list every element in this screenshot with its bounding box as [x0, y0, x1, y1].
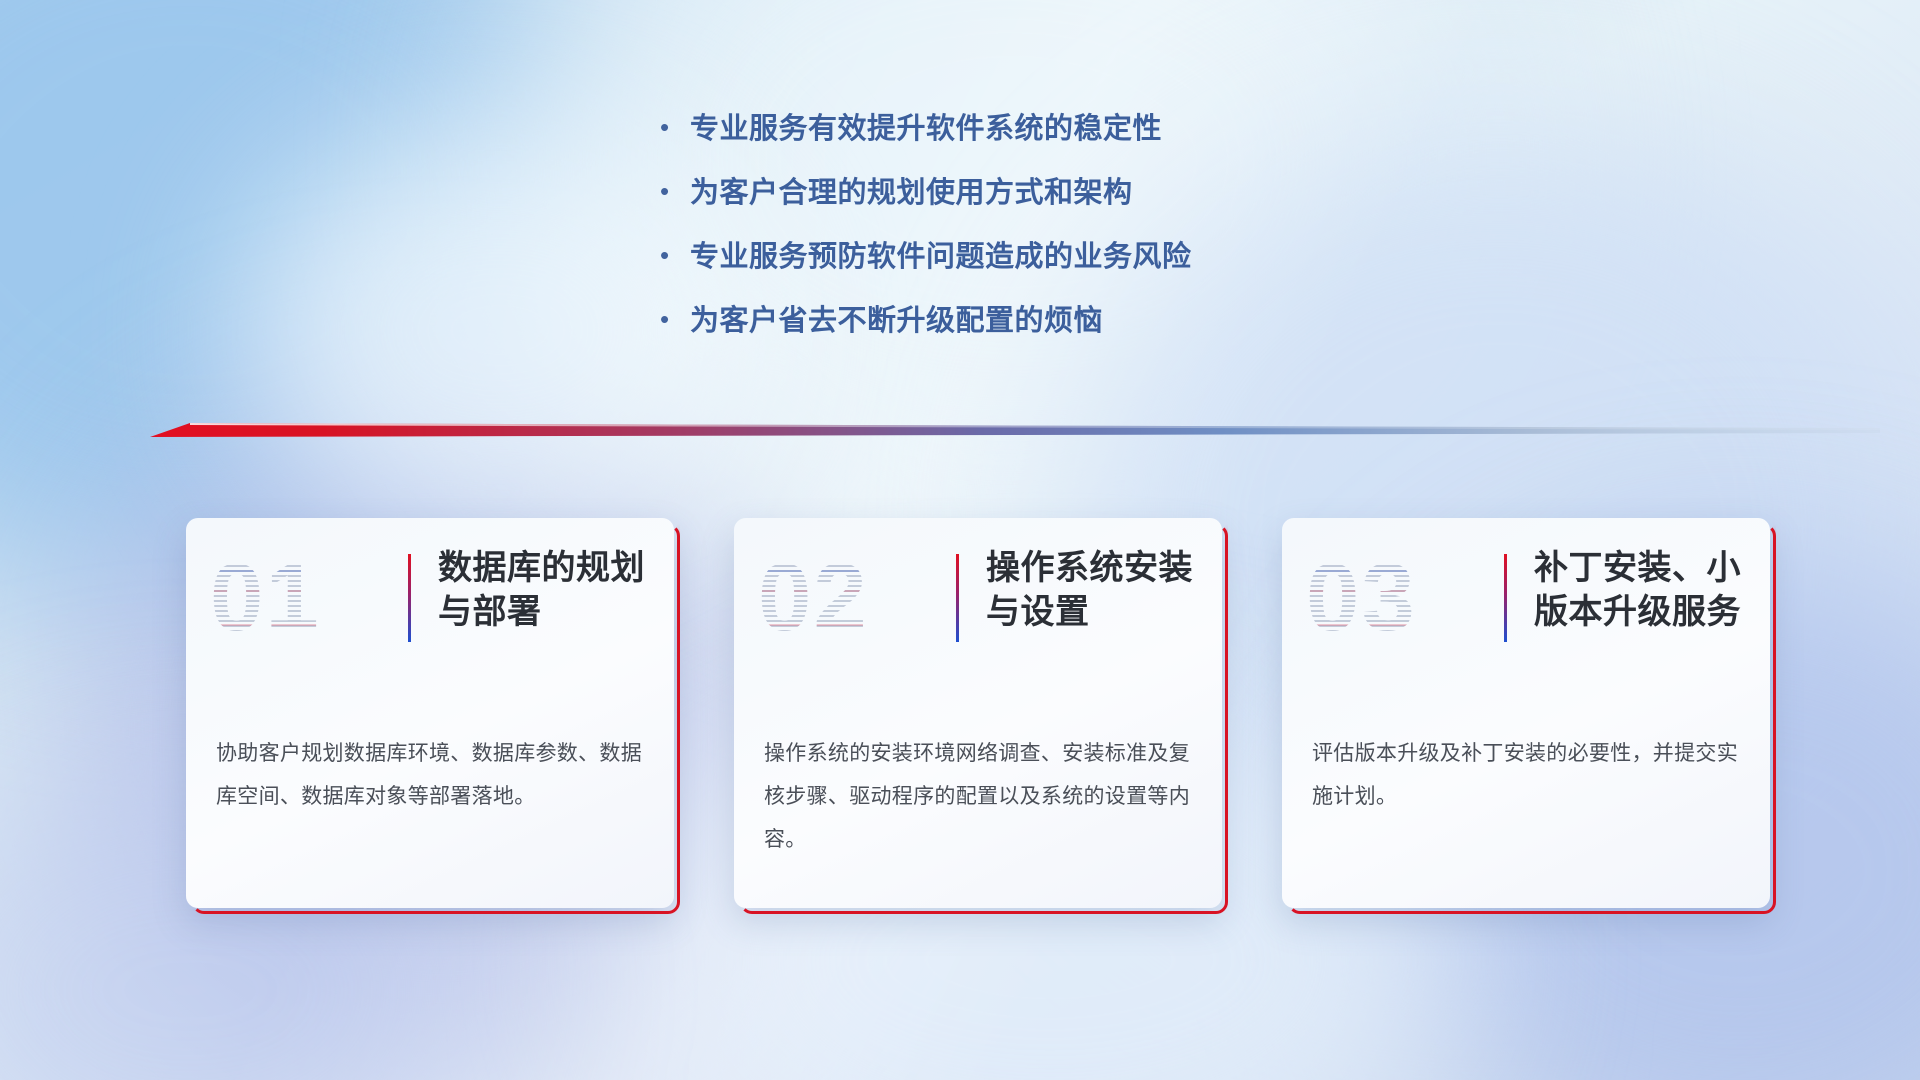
- card-body-text: 评估版本升级及补丁安装的必要性，并提交实施计划。: [1312, 732, 1744, 818]
- bullet-dot-icon: •: [660, 178, 690, 204]
- card-header: 01 01 01 数据库的规划与部署: [186, 518, 674, 718]
- card-body-text: 操作系统的安装环境网络调查、安装标准及复核步骤、驱动程序的配置以及系统的设置等内…: [764, 732, 1196, 861]
- card-title-accent-bar: [408, 554, 411, 642]
- service-card[interactable]: 01 01 01 数据库的规划与部署 协助客户规划数据库环境、数据库参数、数据库…: [186, 518, 674, 908]
- card-number-watermark-blue-stripe: 02: [758, 540, 910, 656]
- bullet-text: 专业服务有效提升软件系统的稳定性: [690, 105, 1162, 147]
- card-title-accent-bar: [1504, 554, 1507, 642]
- list-item: • 为客户合理的规划使用方式和架构: [660, 169, 1192, 233]
- card-number-watermark-blue-stripe: 03: [1306, 540, 1458, 656]
- bullet-text: 为客户合理的规划使用方式和架构: [690, 169, 1133, 211]
- card-title: 补丁安装、小版本升级服务: [1534, 546, 1748, 634]
- bullet-text: 为客户省去不断升级配置的烦恼: [690, 297, 1103, 339]
- bullet-text: 专业服务预防软件问题造成的业务风险: [690, 233, 1192, 275]
- card-header: 03 03 03 补丁安装、小版本升级服务: [1282, 518, 1770, 718]
- card-header: 02 02 02 操作系统安装与设置: [734, 518, 1222, 718]
- list-item: • 为客户省去不断升级配置的烦恼: [660, 297, 1192, 361]
- card-title: 数据库的规划与部署: [438, 546, 652, 634]
- list-item: • 专业服务有效提升软件系统的稳定性: [660, 105, 1192, 169]
- slide-canvas: • 专业服务有效提升软件系统的稳定性 • 为客户合理的规划使用方式和架构 • 专…: [0, 0, 1920, 1080]
- bullet-dot-icon: •: [660, 242, 690, 268]
- bullet-dot-icon: •: [660, 114, 690, 140]
- gradient-divider-bar: [150, 414, 1880, 444]
- card-body-text: 协助客户规划数据库环境、数据库参数、数据库空间、数据库对象等部署落地。: [216, 732, 648, 818]
- card-number-watermark-blue-stripe: 01: [210, 540, 362, 656]
- service-card[interactable]: 03 03 03 补丁安装、小版本升级服务 评估版本升级及补丁安装的必要性，并提…: [1282, 518, 1770, 908]
- card-title-accent-bar: [956, 554, 959, 642]
- card-title: 操作系统安装与设置: [986, 546, 1200, 634]
- service-card[interactable]: 02 02 02 操作系统安装与设置 操作系统的安装环境网络调查、安装标准及复核…: [734, 518, 1222, 908]
- benefit-bullet-list: • 专业服务有效提升软件系统的稳定性 • 为客户合理的规划使用方式和架构 • 专…: [660, 105, 1192, 361]
- service-card-group: 01 01 01 数据库的规划与部署 协助客户规划数据库环境、数据库参数、数据库…: [186, 518, 1770, 908]
- list-item: • 专业服务预防软件问题造成的业务风险: [660, 233, 1192, 297]
- bullet-dot-icon: •: [660, 306, 690, 332]
